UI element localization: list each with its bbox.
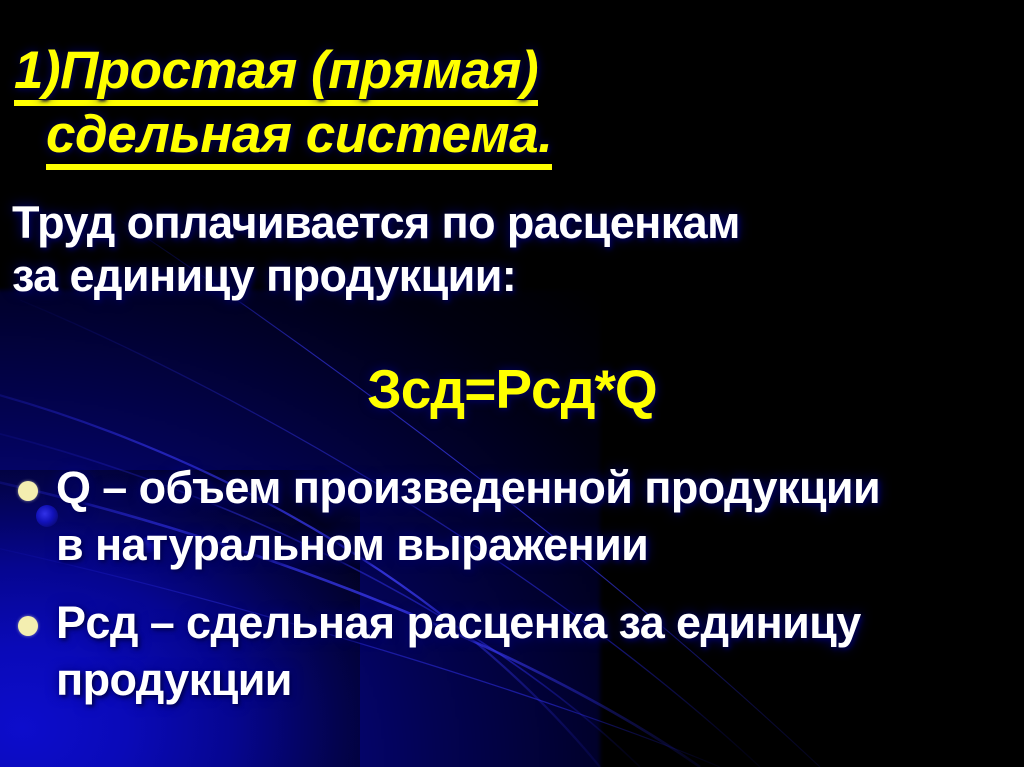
list-item-line-2: в натуральном выражении [56,517,1020,574]
slide-title: 1)Простая (прямая) сдельная система. [0,42,1024,170]
list-item: Рсд – сдельная расценка за единицу проду… [10,595,1020,708]
list-item-line-1: Q – объем произведенной продукции [56,460,1020,517]
lead-line-1: Труд оплачивается по расценкам [12,196,992,249]
lead-line-2: за единицу продукции: [12,249,992,302]
list-item-text: Q – объем произведенной продукции в нату… [56,460,1020,573]
slide-title-line-2: сдельная система. [0,106,1024,170]
list-item-line-2: продукции [56,652,1020,709]
list-item: Q – объем произведенной продукции в нату… [10,460,1020,573]
presentation-slide: 1)Простая (прямая) сдельная система. Тру… [0,0,1024,767]
list-item-line-1: Рсд – сдельная расценка за единицу [56,595,1020,652]
lead-paragraph: Труд оплачивается по расценкам за единиц… [12,196,992,302]
filled-circle-bullet-icon [18,481,38,501]
slide-title-line-1: 1)Простая (прямая) [0,42,1024,106]
filled-circle-bullet-icon [18,616,38,636]
slide-content: 1)Простая (прямая) сдельная система. Тру… [0,0,1024,767]
bullet-list: Q – объем произведенной продукции в нату… [10,460,1020,731]
formula-expression: Зсд=Рсд*Q [0,357,1024,421]
list-item-text: Рсд – сдельная расценка за единицу проду… [56,595,1020,708]
